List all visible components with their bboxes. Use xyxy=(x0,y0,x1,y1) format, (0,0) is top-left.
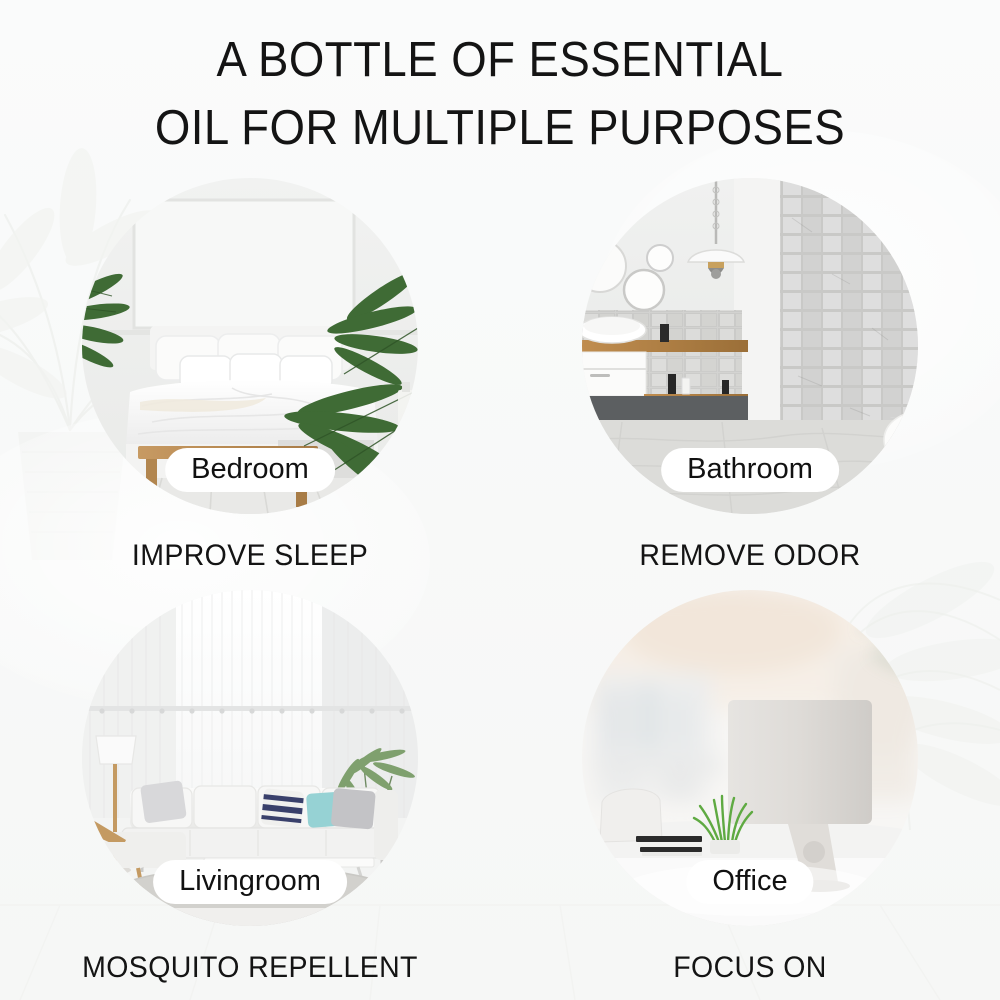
caption-bedroom: IMPROVE SLEEP xyxy=(13,538,488,574)
bedroom-image: Bedroom xyxy=(82,178,418,514)
card-bedroom[interactable]: Bedroom IMPROVE SLEEP xyxy=(0,178,500,574)
title-line-1: A BOTTLE OF ESSENTIAL xyxy=(35,26,965,94)
pill-office: Office xyxy=(686,860,813,904)
caption-bathroom: REMOVE ODOR xyxy=(513,538,988,574)
card-bathroom[interactable]: Bathroom REMOVE ODOR xyxy=(500,178,1000,574)
page-title: A BOTTLE OF ESSENTIAL OIL FOR MULTIPLE P… xyxy=(0,26,1000,162)
card-livingroom[interactable]: Livingroom MOSQUITO REPELLENT xyxy=(0,590,500,986)
office-chair xyxy=(600,789,662,842)
pill-livingroom: Livingroom xyxy=(153,860,347,904)
caption-livingroom: MOSQUITO REPELLENT xyxy=(13,950,488,986)
office-image: Office xyxy=(582,590,918,926)
notebooks xyxy=(636,836,702,856)
pill-bathroom: Bathroom xyxy=(661,448,839,492)
livingroom-image: Livingroom xyxy=(82,590,418,926)
bathroom-image: Bathroom xyxy=(582,178,918,514)
title-line-2: OIL FOR MULTIPLE PURPOSES xyxy=(35,94,965,162)
caption-office: FOCUS ON xyxy=(513,950,988,986)
pill-bedroom: Bedroom xyxy=(165,448,335,492)
card-office[interactable]: Office FOCUS ON xyxy=(500,590,1000,986)
